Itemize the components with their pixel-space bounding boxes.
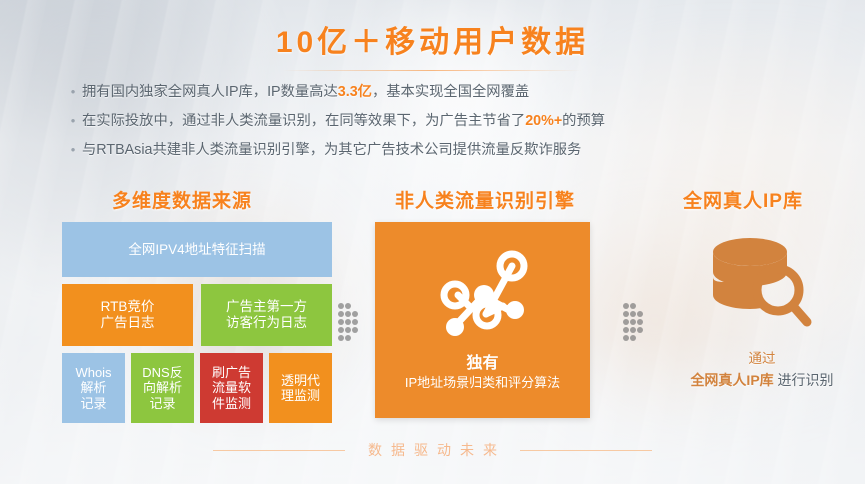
ip-library-rest: 进行识别 — [774, 372, 834, 388]
source-block-advertiser-first-party-log[interactable]: 广告主第一方访客行为日志 — [201, 284, 332, 346]
bullet-text-post: 的预算 — [562, 113, 605, 129]
ip-library-line2: 全网真人IP库 进行识别 — [672, 370, 852, 390]
bullet-highlight: 20%+ — [525, 113, 562, 129]
bullet-highlight: 3.3亿 — [338, 84, 372, 100]
footer: 数据驱动未来 — [0, 440, 865, 460]
dotted-chevron-arrow-icon — [337, 300, 363, 348]
engine-panel-title: 独有 — [375, 349, 590, 373]
source-row-3: Whois解析记录 DNS反向解析记录 刷广告流量软件监测 透明代理监测 — [62, 353, 332, 423]
bullet-marker-icon: • — [64, 140, 82, 160]
source-block-dns-reverse[interactable]: DNS反向解析记录 — [131, 353, 194, 423]
bullet-text: 与RTBAsia共建非人类流量识别引擎，为其它广告技术公司提供流量反欺诈服务 — [82, 140, 581, 160]
source-block-whois[interactable]: Whois解析记录 — [62, 353, 125, 423]
title-divider — [282, 70, 582, 71]
source-block-ad-fraud-software[interactable]: 刷广告流量软件监测 — [200, 353, 263, 423]
list-item: • 与RTBAsia共建非人类流量识别引擎，为其它广告技术公司提供流量反欺诈服务 — [64, 140, 824, 160]
bullet-list: • 拥有国内独家全网真人IP库，IP数量高达3.3亿，基本实现全国全网覆盖 • … — [64, 82, 824, 169]
database-search-icon — [706, 232, 818, 340]
bullet-marker-icon: • — [64, 111, 82, 131]
column-heading-ip-library: 全网真人IP库 — [683, 186, 803, 213]
data-source-blocks: 全网IPV4地址特征扫描 RTB竞价广告日志 广告主第一方访客行为日志 Whoi… — [62, 222, 332, 423]
bullet-text-post: ，基本实现全国全网覆盖 — [372, 84, 529, 100]
ip-library-column: 通过 全网真人IP库 进行识别 — [672, 232, 852, 390]
page-title: 10亿＋移动用户数据 — [0, 17, 865, 61]
bullet-text-pre: 拥有国内独家全网真人IP库，IP数量高达 — [82, 84, 338, 100]
column-heading-data-sources: 多维度数据来源 — [112, 186, 252, 213]
bullet-marker-icon: • — [64, 82, 82, 102]
source-block-transparent-proxy[interactable]: 透明代理监测 — [269, 353, 332, 423]
slide-root: 10亿＋移动用户数据 • 拥有国内独家全网真人IP库，IP数量高达3.3亿，基本… — [0, 0, 865, 484]
ip-library-strong: 全网真人IP库 — [690, 372, 773, 388]
ip-library-line1: 通过 — [672, 347, 852, 367]
bullet-text-pre: 与RTBAsia共建非人类流量识别引擎，为其它广告技术公司提供流量反欺诈服务 — [82, 142, 581, 158]
bullet-text: 拥有国内独家全网真人IP库，IP数量高达3.3亿，基本实现全国全网覆盖 — [82, 82, 529, 102]
footer-rule-left — [213, 450, 345, 451]
source-block-ipv4-scan[interactable]: 全网IPV4地址特征扫描 — [62, 222, 332, 277]
bullet-text: 在实际投放中，通过非人类流量识别，在同等效果下，为广告主节省了20%+的预算 — [82, 111, 605, 131]
list-item: • 在实际投放中，通过非人类流量识别，在同等效果下，为广告主节省了20%+的预算 — [64, 111, 824, 131]
network-graph-icon — [431, 248, 535, 346]
footer-rule-right — [520, 450, 652, 451]
engine-panel-subtitle: IP地址场景归类和评分算法 — [375, 372, 590, 391]
column-heading-engine: 非人类流量识别引擎 — [395, 186, 575, 213]
source-row-2: RTB竞价广告日志 广告主第一方访客行为日志 — [62, 284, 332, 346]
list-item: • 拥有国内独家全网真人IP库，IP数量高达3.3亿，基本实现全国全网覆盖 — [64, 82, 824, 102]
source-row-1: 全网IPV4地址特征扫描 — [62, 222, 332, 277]
source-block-rtb-bid-log[interactable]: RTB竞价广告日志 — [62, 284, 193, 346]
engine-panel[interactable]: 独有 IP地址场景归类和评分算法 — [375, 222, 590, 418]
dotted-chevron-arrow-icon — [622, 300, 648, 348]
footer-text: 数据驱动未来 — [359, 440, 506, 460]
bullet-text-pre: 在实际投放中，通过非人类流量识别，在同等效果下，为广告主节省了 — [82, 113, 525, 129]
